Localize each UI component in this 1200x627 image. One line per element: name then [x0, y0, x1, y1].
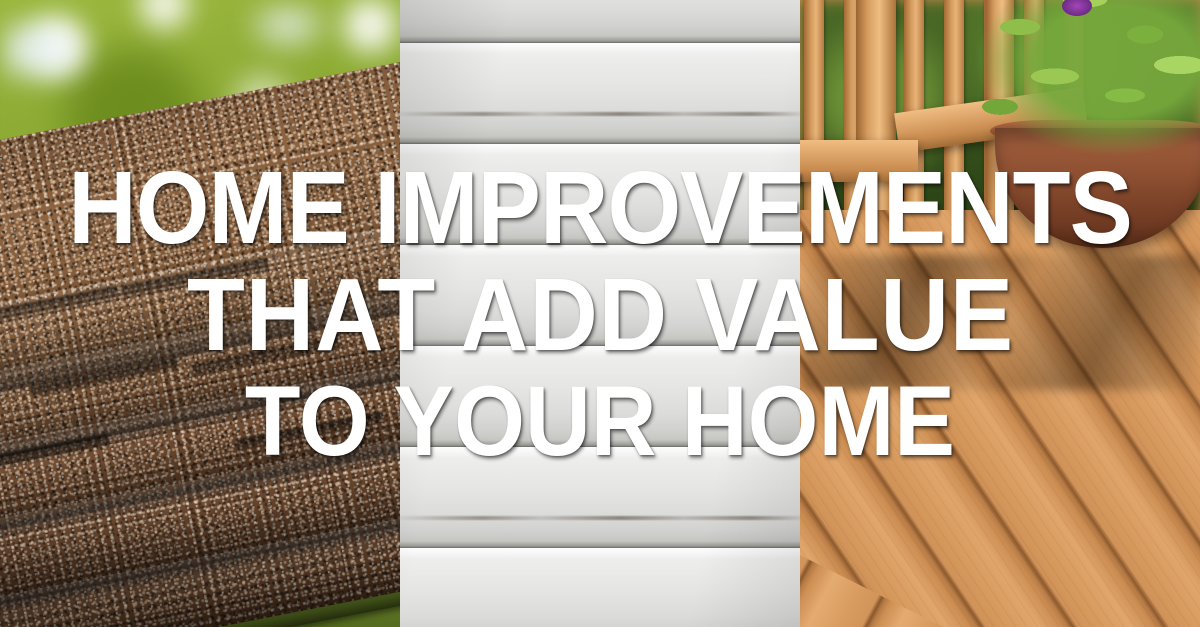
deck-cast-shadow [800, 255, 1200, 390]
panel-wood-deck [800, 0, 1200, 627]
roof-bottom-shadow [0, 507, 400, 627]
panel-vinyl-siding [400, 0, 800, 627]
railing-beam [800, 140, 918, 182]
plant-foliage [970, 0, 1200, 160]
siding-vignette [400, 0, 800, 627]
panel-roof-shingles [0, 0, 400, 627]
banner-image: HOME IMPROVEMENTS THAT ADD VALUE TO YOUR… [0, 0, 1200, 627]
